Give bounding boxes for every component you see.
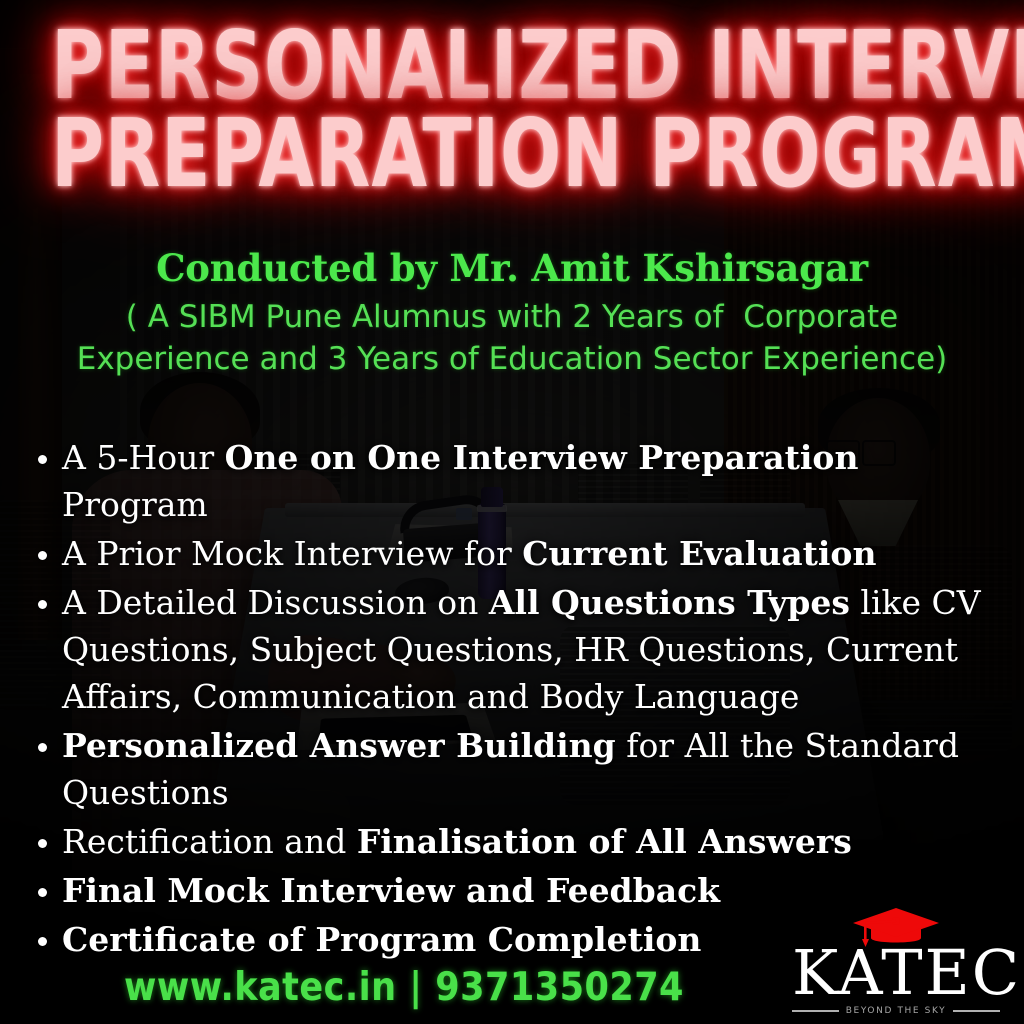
feature-text: A Detailed Discussion on xyxy=(62,583,489,622)
presenter-block: Conducted by Mr. Amit Kshirsagar ( A SIB… xyxy=(0,245,1024,380)
presenter-credentials: ( A SIBM Pune Alumnus with 2 Years of Co… xyxy=(0,296,1024,380)
feature-text-emphasis: All Questions Types xyxy=(489,583,850,622)
poster-content: PERSONALIZED INTERVIEW PREPARATION PROGR… xyxy=(0,0,1024,1024)
feature-item: A Detailed Discussion on All Questions T… xyxy=(26,579,1002,720)
feature-text: Program xyxy=(62,485,208,524)
feature-item: A 5-Hour One on One Interview Preparatio… xyxy=(26,434,1002,528)
graduation-cap-icon xyxy=(792,906,1000,948)
feature-text: A Prior Mock Interview for xyxy=(62,534,522,573)
poster: PERSONALIZED INTERVIEW PREPARATION PROGR… xyxy=(0,0,1024,1024)
feature-text-emphasis: Final Mock Interview and Feedback xyxy=(62,871,720,910)
feature-item: A Prior Mock Interview for Current Evalu… xyxy=(26,530,1002,577)
tagline-rule-right xyxy=(953,1010,1000,1012)
feature-text-emphasis: Personalized Answer Building xyxy=(62,726,616,765)
feature-item: Personalized Answer Building for All the… xyxy=(26,722,1002,816)
feature-text-emphasis: Finalisation of All Answers xyxy=(357,822,852,861)
feature-text: A 5-Hour xyxy=(62,438,225,477)
tagline-rule-left xyxy=(792,1010,839,1012)
poster-title: PERSONALIZED INTERVIEW PREPARATION PROGR… xyxy=(0,14,1024,190)
feature-text: Rectification and xyxy=(62,822,357,861)
katec-tagline: BEYOND THE SKY xyxy=(846,1006,946,1016)
feature-text-emphasis: Current Evaluation xyxy=(522,534,876,573)
presenter-name: Conducted by Mr. Amit Kshirsagar xyxy=(0,245,1024,291)
feature-text-emphasis: Certificate of Program Completion xyxy=(62,920,701,959)
feature-text-emphasis: One on One Interview Preparation xyxy=(225,438,859,477)
feature-list: A 5-Hour One on One Interview Preparatio… xyxy=(26,434,1002,965)
katec-logo: KATEC BEYOND THE SKY xyxy=(792,906,1000,1016)
title-line-2: PREPARATION PROGRAM xyxy=(51,102,973,206)
katec-wordmark: KATEC xyxy=(792,942,1000,1004)
feature-item: Rectification and Finalisation of All An… xyxy=(26,818,1002,865)
